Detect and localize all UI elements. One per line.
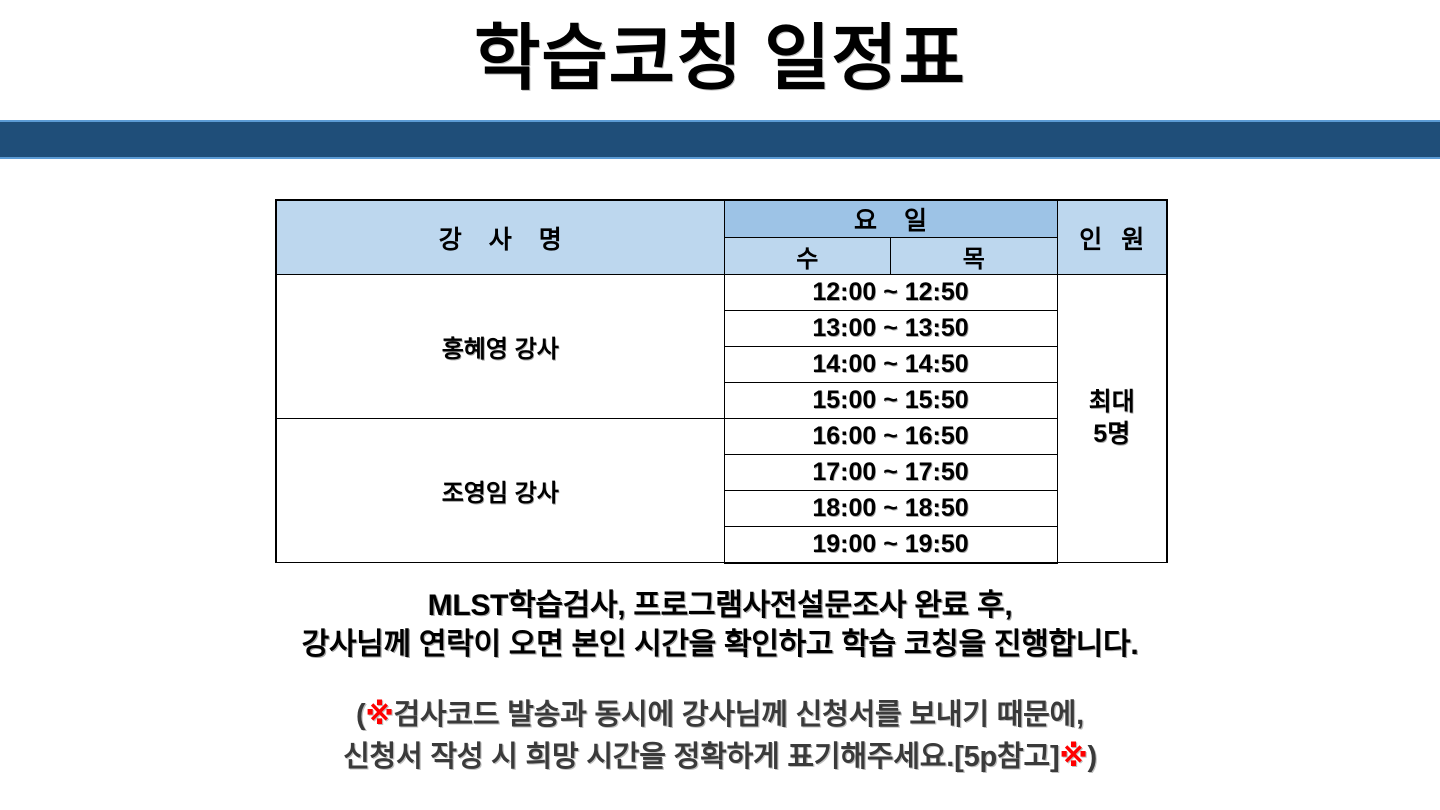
table-header-row-1: 강 사 명 요 일 인 원	[276, 200, 1167, 238]
reference-mark-icon: ※	[365, 699, 393, 731]
header-capacity: 인 원	[1057, 200, 1167, 275]
time-slot-cell: 19:00 ~ 19:50	[724, 527, 1057, 563]
time-slot-cell: 16:00 ~ 16:50	[724, 419, 1057, 455]
sub-note-line-2-text: 신청서 작성 시 희망 시간을 정확하게 표기해주세요.[5p참고]	[343, 741, 1059, 773]
paren-close: )	[1087, 741, 1096, 773]
main-note-line-1: MLST학습검사, 프로그램사전설문조사 완료 후,	[0, 586, 1440, 625]
capacity-value-cell: 최대 5명	[1057, 275, 1167, 563]
table-row: 홍혜영 강사 12:00 ~ 12:50 최대 5명	[276, 275, 1167, 311]
main-note-line-2: 강사님께 연락이 오면 본인 시간을 확인하고 학습 코칭을 진행합니다.	[0, 625, 1440, 664]
header-day-thursday: 목	[891, 238, 1058, 275]
time-slot-cell: 14:00 ~ 14:50	[724, 347, 1057, 383]
schedule-table: 강 사 명 요 일 인 원 수 목 홍혜영 강사 12:00 ~ 12:50 최…	[275, 199, 1168, 564]
time-slot-cell: 17:00 ~ 17:50	[724, 455, 1057, 491]
sub-note-line-1-text: 검사코드 발송과 동시에 강사님께 신청서를 보내기 때문에,	[393, 699, 1084, 731]
reference-mark-icon: ※	[1059, 741, 1087, 773]
header-day-wednesday: 수	[724, 238, 891, 275]
instructor-name-cell-1: 홍혜영 강사	[276, 275, 724, 419]
sub-note-line-1: (※검사코드 발송과 동시에 강사님께 신청서를 보내기 때문에,	[0, 694, 1440, 736]
time-slot-cell: 18:00 ~ 18:50	[724, 491, 1057, 527]
page-title: 학습코칭 일정표	[474, 23, 966, 95]
time-slot-cell: 15:00 ~ 15:50	[724, 383, 1057, 419]
main-note: MLST학습검사, 프로그램사전설문조사 완료 후, 강사님께 연락이 오면 본…	[0, 586, 1440, 664]
header-instructor-name: 강 사 명	[276, 200, 724, 275]
instructor-name-cell-2: 조영임 강사	[276, 419, 724, 563]
time-slot-cell: 13:00 ~ 13:50	[724, 311, 1057, 347]
header-day-group: 요 일	[724, 200, 1057, 238]
sub-note-line-2: 신청서 작성 시 희망 시간을 정확하게 표기해주세요.[5p참고]※)	[0, 736, 1440, 778]
table-row: 조영임 강사 16:00 ~ 16:50	[276, 419, 1167, 455]
title-area: 학습코칭 일정표	[0, 6, 1440, 111]
sub-note: (※검사코드 발송과 동시에 강사님께 신청서를 보내기 때문에, 신청서 작성…	[0, 694, 1440, 778]
time-slot-cell: 12:00 ~ 12:50	[724, 275, 1057, 311]
blue-banner-bar	[0, 120, 1440, 159]
slide-root: 학습코칭 일정표 강 사 명 요 일 인 원 수 목 홍혜영 강사 12:00 …	[0, 0, 1440, 810]
